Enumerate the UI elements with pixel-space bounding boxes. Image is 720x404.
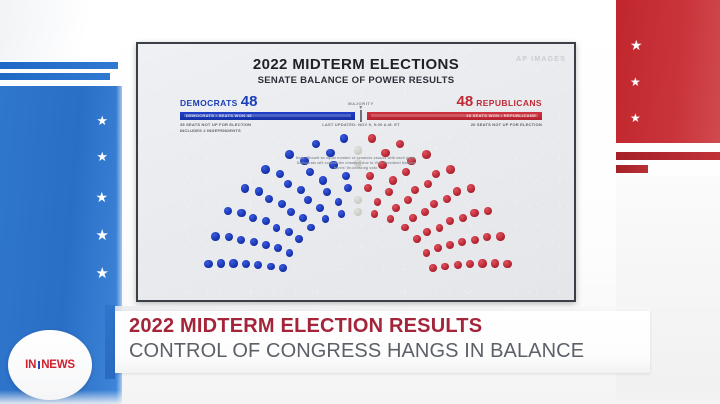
senate-seat-democrat (278, 200, 286, 208)
senate-seat-republican (392, 204, 400, 212)
republicans-seat-count: 48 (457, 93, 474, 110)
senate-seat-democrat (335, 198, 343, 206)
senate-seat-republican (446, 241, 454, 249)
balance-labels: DEMOCRATS48 MAJORITY ▼ 48REPUBLICANS (180, 96, 542, 111)
broadcast-frame: ★ ★ ★ ★ ★ ★ ★ ★ AP IMAGES 2022 MIDTERM E… (0, 0, 720, 404)
senate-seat-democrat (304, 196, 312, 204)
lower-third-accent-bar (105, 305, 115, 379)
senate-seat-democrat (295, 235, 303, 243)
senate-seat-democrat (229, 259, 237, 267)
senate-seat-democrat (255, 187, 263, 195)
right-star-3: ★ (630, 112, 641, 124)
right-accent-bar-2 (616, 165, 648, 173)
left-star-1: ★ (96, 114, 108, 127)
senate-seat-undecided (354, 208, 362, 216)
balance-of-power-block: DEMOCRATS48 MAJORITY ▼ 48REPUBLICANS DEM… (180, 96, 542, 136)
senate-seat-democrat (249, 214, 257, 222)
senate-seat-republican (453, 187, 461, 195)
democrats-bar-text: DEMOCRATS • SEATS WON 48 (186, 112, 252, 120)
senate-seat-republican (371, 210, 379, 218)
senate-seat-democrat (299, 214, 307, 222)
senate-seat-democrat (217, 259, 225, 267)
balance-bars: DEMOCRATS • SEATS WON 48 48 SEATS WON • … (180, 112, 542, 120)
republicans-note-line-1: 20 SEATS NOT UP FOR ELECTION (471, 122, 542, 127)
graphic-subtitle: SENATE BALANCE OF POWER RESULTS (138, 75, 574, 86)
senate-seat-republican (424, 180, 432, 188)
republicans-notes: 20 SEATS NOT UP FOR ELECTION (471, 122, 542, 127)
senate-seat-democrat (316, 204, 324, 212)
senate-seat-republican (409, 214, 417, 222)
senate-seat-republican (432, 170, 440, 178)
senate-seat-democrat (307, 224, 315, 232)
graphic-footnote: Note: Should an equal number of senators… (291, 156, 421, 171)
republicans-bar-text: 48 SEATS WON • REPUBLICANS (466, 112, 536, 120)
logo-text: INNEWS (25, 359, 75, 371)
republicans-label-group: 48REPUBLICANS (457, 93, 542, 111)
senate-seat-republican (470, 209, 478, 217)
senate-seat-democrat (237, 236, 245, 244)
majority-marker: MAJORITY ▼ (348, 101, 373, 110)
senate-seat-democrat (250, 238, 258, 246)
logo-separator-icon (38, 361, 40, 369)
left-star-2: ★ (96, 150, 108, 163)
senate-seat-republican (478, 259, 486, 267)
bottom-fade (0, 390, 720, 404)
democrats-seat-count: 48 (241, 93, 258, 110)
right-accent-bar-1 (616, 152, 720, 160)
senate-seat-republican (483, 233, 491, 241)
senate-seat-republican (441, 263, 449, 271)
senate-seat-undecided (354, 146, 362, 154)
left-accent-bar-1 (0, 62, 118, 69)
democrats-bar: DEMOCRATS • SEATS WON 48 (180, 112, 355, 120)
logo-text-before: IN (25, 359, 36, 371)
left-accent-bar-2 (0, 73, 110, 80)
senate-seat-democrat (312, 140, 321, 149)
senate-seat-republican (496, 232, 505, 241)
senate-seat-republican (466, 260, 474, 268)
last-updated-text: LAST UPDATED: NOV 9, 9:00 A.M. ET (322, 122, 400, 127)
balance-notes: 35 SEATS NOT UP FOR ELECTION INCLUDES 2 … (180, 122, 542, 136)
senate-seat-republican (446, 217, 454, 225)
senate-seat-democrat (284, 180, 292, 188)
lower-third-headline: 2022 MIDTERM ELECTION RESULTS (129, 315, 482, 338)
senate-seat-republican (436, 224, 444, 232)
senate-seat-democrat (267, 263, 275, 271)
senate-seat-democrat (211, 232, 220, 241)
senate-seat-democrat (262, 217, 270, 225)
senate-seat-democrat (254, 261, 262, 269)
democrats-notes: 35 SEATS NOT UP FOR ELECTION INCLUDES 2 … (180, 122, 251, 133)
senate-seat-democrat (323, 188, 331, 196)
senate-seat-republican (446, 165, 455, 174)
senate-seat-democrat (204, 260, 213, 269)
senate-seat-republican (366, 172, 374, 180)
logo-text-after: NEWS (41, 359, 75, 371)
senate-seat-republican (434, 244, 442, 252)
senate-seat-republican (387, 215, 395, 223)
senate-seat-republican (404, 196, 412, 204)
senate-seat-republican (423, 249, 431, 257)
right-star-2: ★ (630, 76, 641, 88)
senate-seat-republican (484, 207, 493, 216)
senate-seat-republican (413, 235, 421, 243)
senate-seat-republican (423, 228, 431, 236)
republicans-label: REPUBLICANS (476, 98, 542, 108)
senate-seat-republican (421, 208, 429, 216)
senate-seat-democrat (340, 134, 349, 143)
right-star-1: ★ (630, 38, 643, 52)
senate-seat-republican (467, 184, 476, 193)
senate-seat-undecided (354, 196, 362, 204)
democrats-label: DEMOCRATS (180, 98, 238, 108)
senate-seat-democrat (297, 186, 305, 194)
senate-seat-republican (458, 238, 466, 246)
right-red-block: ★ ★ ★ (616, 0, 720, 143)
senate-seat-democrat (344, 184, 352, 192)
senate-seat-democrat (285, 228, 293, 236)
senate-seat-democrat (274, 244, 282, 252)
senate-seat-republican (443, 195, 451, 203)
senate-seat-republican (364, 184, 372, 192)
senate-seat-democrat (237, 209, 245, 217)
senate-seat-democrat (241, 184, 250, 193)
senate-seat-democrat (276, 170, 284, 178)
senate-seat-democrat (225, 233, 233, 241)
senate-seat-democrat (261, 165, 270, 174)
senate-seat-republican (401, 224, 409, 232)
left-star-4: ★ (96, 228, 109, 243)
lower-third-panel: 2022 MIDTERM ELECTION RESULTS CONTROL OF… (115, 311, 650, 373)
senate-seat-democrat (279, 264, 287, 272)
senate-seat-democrat (338, 210, 346, 218)
senate-seat-democrat (273, 224, 281, 232)
senate-seat-republican (459, 214, 467, 222)
senate-seat-republican (454, 261, 462, 269)
left-top-white-block (0, 0, 122, 60)
senate-seat-democrat (286, 249, 294, 257)
left-star-3: ★ (95, 190, 108, 204)
senate-seat-democrat (262, 241, 270, 249)
senate-seat-republican (385, 188, 393, 196)
senate-seat-republican (491, 259, 499, 267)
democrats-label-group: DEMOCRATS48 (180, 93, 257, 111)
senate-seat-republican (411, 186, 419, 194)
senate-seat-democrat (265, 195, 273, 203)
senate-seat-republican (422, 150, 431, 159)
senate-seat-republican (374, 198, 382, 206)
senate-seat-democrat (287, 208, 295, 216)
senate-seat-republican (396, 140, 405, 149)
graphic-title: 2022 MIDTERM ELECTIONS (138, 56, 574, 73)
senate-seat-republican (471, 236, 479, 244)
democrats-note-line-1: 35 SEATS NOT UP FOR ELECTION (180, 122, 251, 128)
senate-seat-republican (503, 260, 512, 269)
left-star-5: ★ (96, 266, 109, 281)
republicans-bar: 48 SEATS WON • REPUBLICANS (367, 112, 542, 120)
senate-seat-democrat (242, 260, 250, 268)
lower-third: 2022 MIDTERM ELECTION RESULTS CONTROL OF… (105, 311, 650, 373)
senate-seat-republican (389, 176, 397, 184)
majority-divider (360, 110, 362, 122)
senate-seat-republican (429, 264, 437, 272)
senate-results-graphic: AP IMAGES 2022 MIDTERM ELECTIONS SENATE … (136, 42, 576, 302)
senate-seat-democrat (322, 215, 330, 223)
senate-seat-republican (368, 134, 377, 143)
lower-third-subhead: CONTROL OF CONGRESS HANGS IN BALANCE (129, 340, 584, 363)
senate-seat-democrat (342, 172, 350, 180)
senate-seat-republican (430, 200, 438, 208)
democrats-note-line-2: INCLUDES 2 INDEPENDENTS (180, 128, 251, 134)
senate-seat-democrat (319, 176, 327, 184)
senate-seat-democrat (224, 207, 233, 216)
